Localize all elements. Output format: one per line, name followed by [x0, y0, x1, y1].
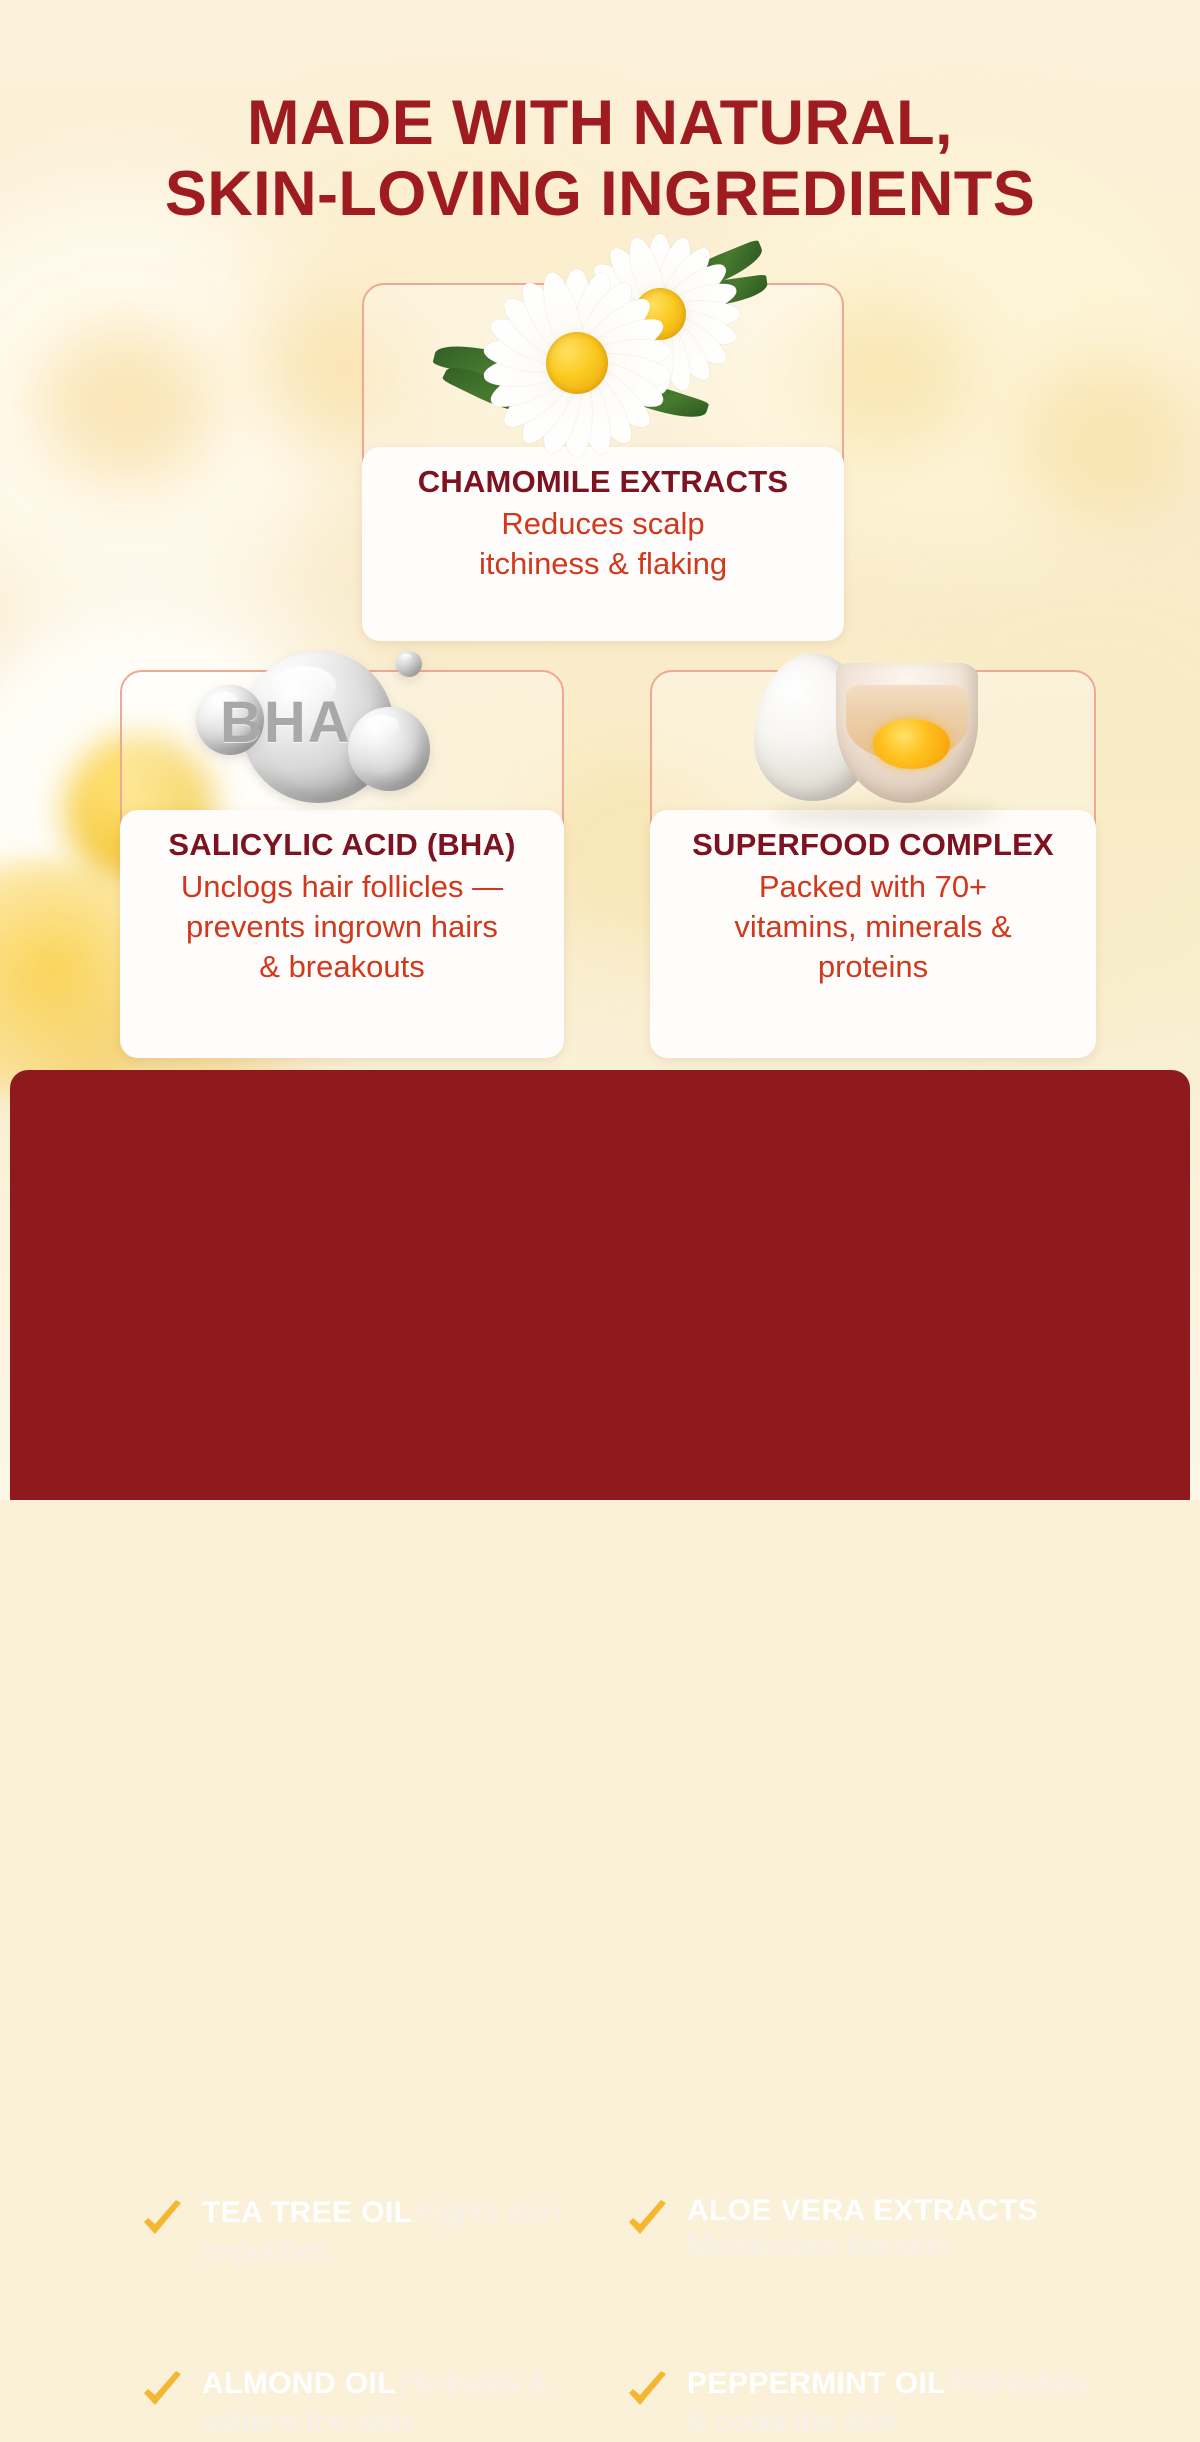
card-text-panel: CHAMOMILE EXTRACTS Reduces scalp itchine…: [362, 447, 844, 641]
card-description: Reduces scalp itchiness & flaking: [376, 504, 830, 585]
benefit-name: TEA TREE OIL: [202, 2196, 412, 2229]
card-text-panel: SALICYLIC ACID (BHA) Unclogs hair follic…: [120, 810, 564, 1058]
card-description: Unclogs hair follicles — prevents ingrow…: [134, 867, 550, 988]
headline-line-2: SKIN-LOVING INGREDIENTS: [0, 159, 1200, 230]
card-description-line-1: Reduces scalp: [376, 504, 830, 544]
benefit-item-almond-oil[interactable]: ALMOND OIL Hydrates & softens the skin: [140, 2365, 610, 2442]
card-description-line-1: Packed with 70+: [664, 867, 1082, 907]
ingredient-card-superfood-complex[interactable]: SUPERFOOD COMPLEX Packed with 70+ vitami…: [650, 670, 1096, 1034]
benefit-description: Moisturizes the skin: [687, 2229, 950, 2262]
card-description-line-2: itchiness & flaking: [376, 544, 830, 584]
check-icon: [625, 2198, 669, 2242]
card-title: SUPERFOOD COMPLEX: [664, 828, 1082, 863]
card-description: Packed with 70+ vitamins, minerals & pro…: [664, 867, 1082, 988]
card-text-panel: SUPERFOOD COMPLEX Packed with 70+ vitami…: [650, 810, 1096, 1058]
check-icon: [140, 2369, 184, 2413]
ingredient-card-salicylic-acid[interactable]: SALICYLIC ACID (BHA) Unclogs hair follic…: [120, 670, 564, 1034]
benefits-panel: TEA TREE OIL Fights skin impurities ALOE…: [10, 1070, 1190, 1500]
card-title: CHAMOMILE EXTRACTS: [376, 465, 830, 500]
check-icon: [140, 2198, 184, 2242]
card-description-line-3: & breakouts: [134, 947, 550, 987]
benefit-item-tea-tree-oil[interactable]: TEA TREE OIL Fights skin impurities: [140, 2194, 610, 2271]
benefit-item-peppermint-oil[interactable]: PEPPERMINT OIL Refreshes & cools the ski…: [625, 2365, 1115, 2442]
check-icon: [625, 2369, 669, 2413]
benefit-item-aloe-vera-extracts[interactable]: ALOE VERA EXTRACTS Moisturizes the skin: [625, 2194, 1115, 2265]
page-title: MADE WITH NATURAL, SKIN-LOVING INGREDIEN…: [0, 88, 1200, 229]
card-description-line-2: prevents ingrown hairs: [134, 907, 550, 947]
card-description-line-3: proteins: [664, 947, 1082, 987]
card-description-line-1: Unclogs hair follicles —: [134, 867, 550, 907]
card-title: SALICYLIC ACID (BHA): [134, 828, 550, 863]
ingredient-card-chamomile[interactable]: CHAMOMILE EXTRACTS Reduces scalp itchine…: [362, 283, 844, 617]
headline-line-1: MADE WITH NATURAL,: [247, 88, 953, 158]
card-description-line-2: vitamins, minerals &: [664, 907, 1082, 947]
benefit-name: PEPPERMINT OIL: [687, 2367, 946, 2400]
benefit-name: ALOE VERA EXTRACTS: [687, 2194, 1038, 2227]
benefit-name: ALMOND OIL: [202, 2367, 396, 2400]
